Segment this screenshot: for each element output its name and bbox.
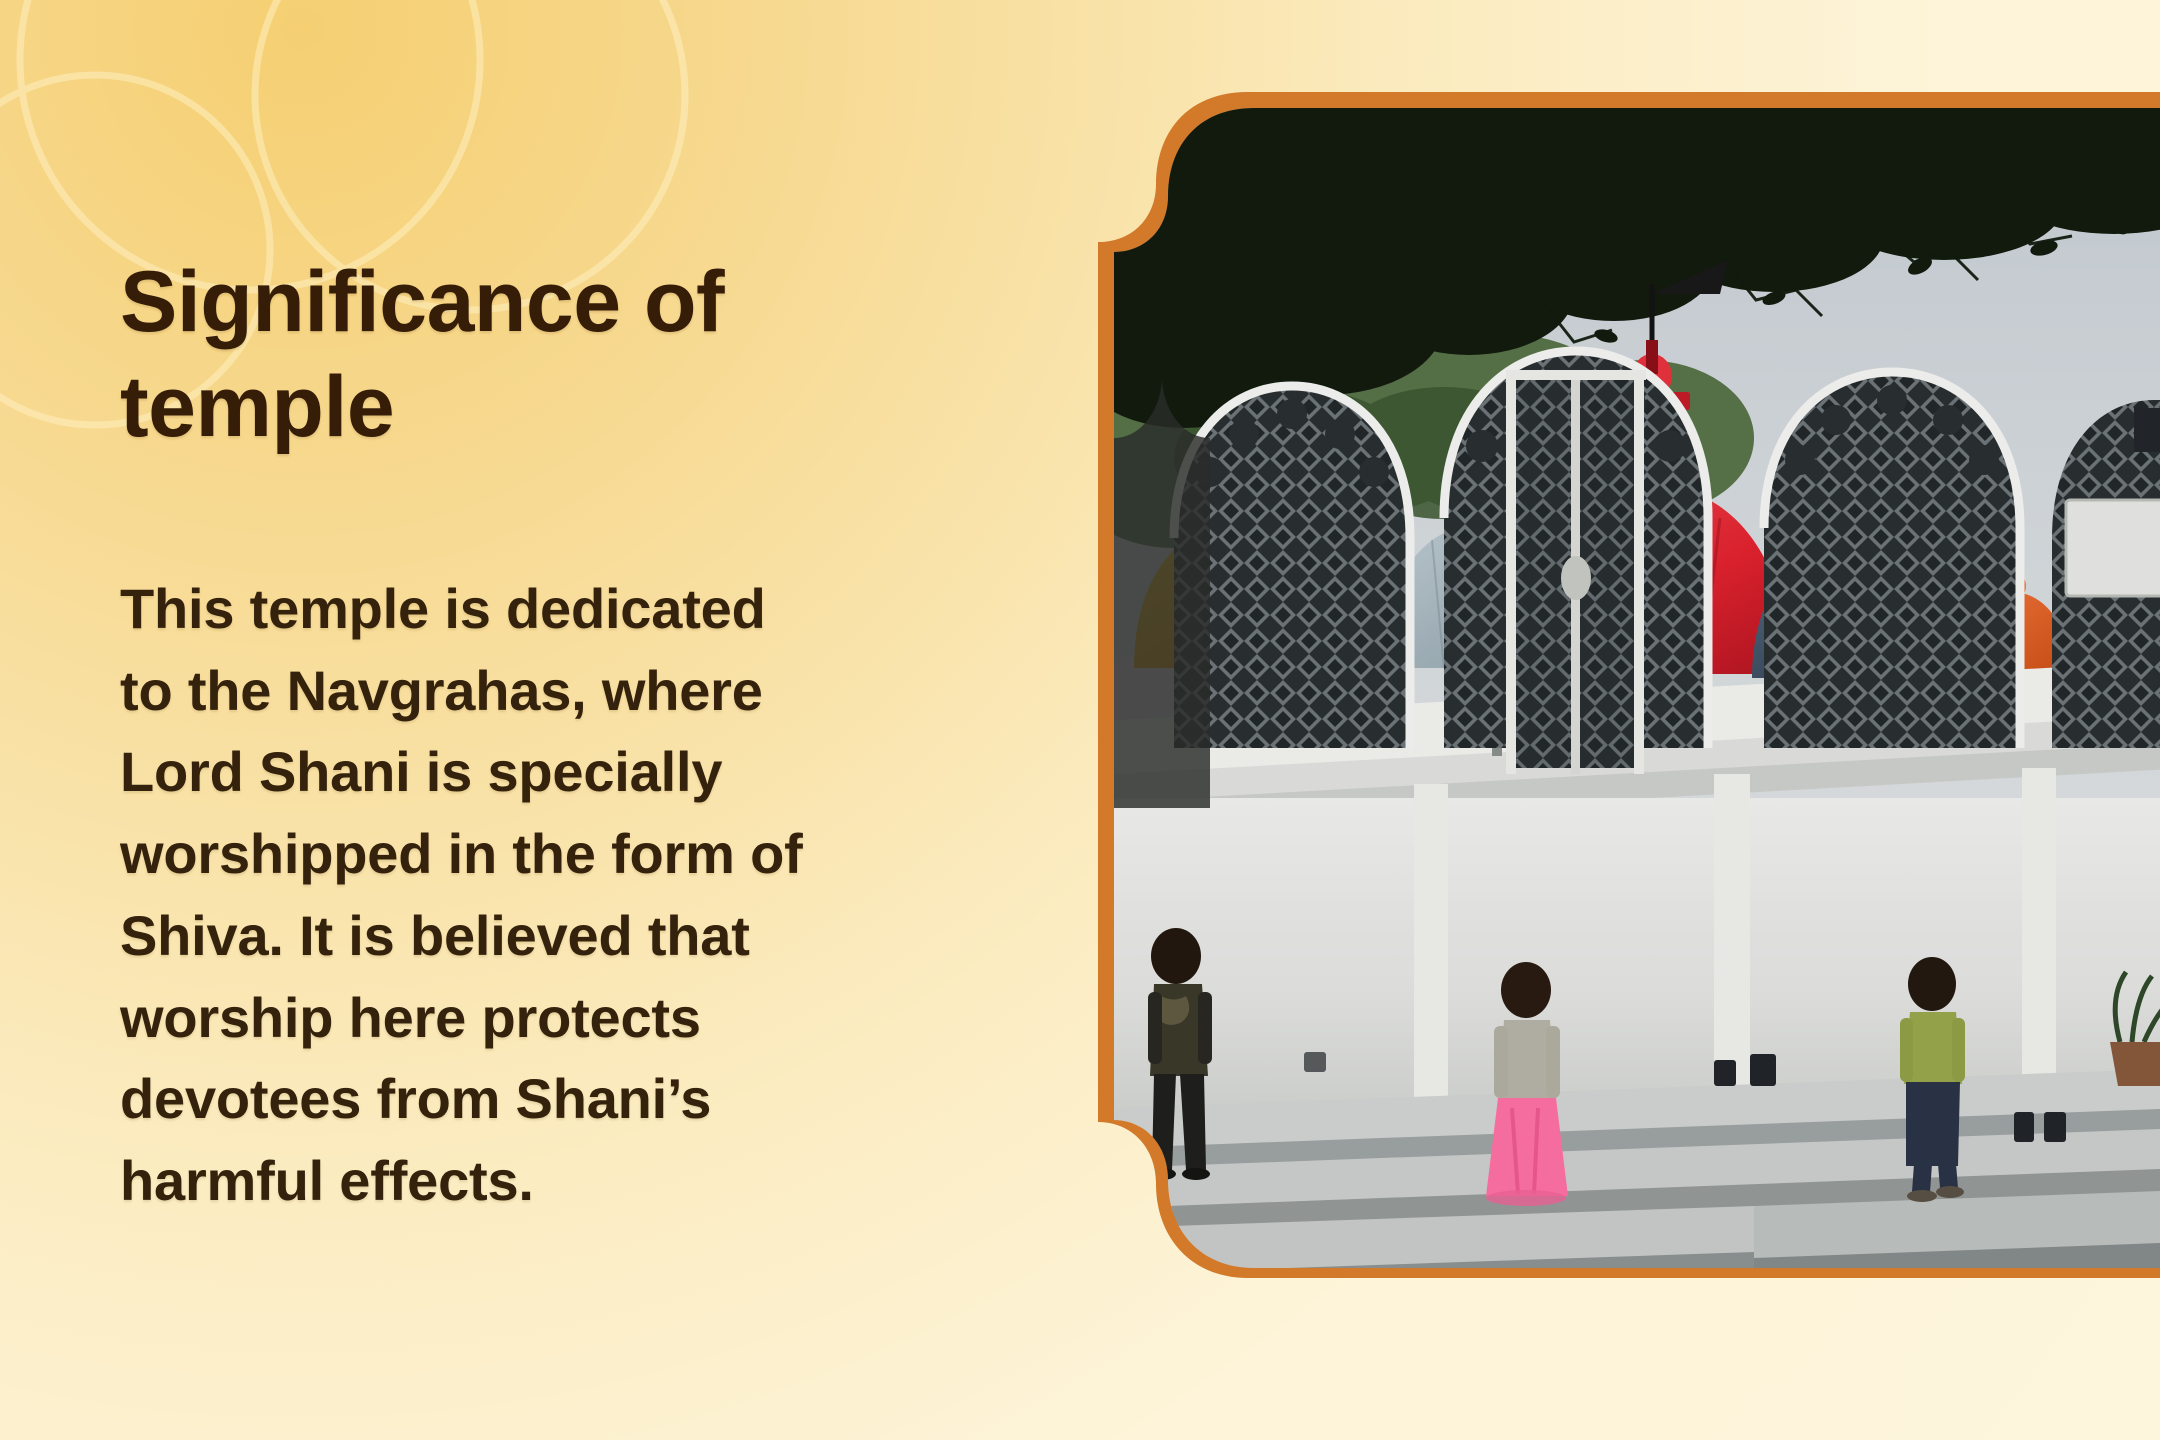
photo-clip [1114, 108, 2160, 1364]
temple-photo-panel [1098, 92, 2160, 1380]
temple-photograph [1114, 108, 2160, 1364]
courtyard [1114, 1268, 2160, 1364]
slide-root: Significance of temple This temple is de… [0, 0, 2160, 1440]
body-paragraph: This temple is dedicated to the Navgraha… [120, 568, 820, 1222]
page-title: Significance of temple [120, 250, 820, 460]
ground-debris [1256, 1309, 2060, 1360]
text-column: Significance of temple This temple is de… [120, 250, 1060, 1222]
